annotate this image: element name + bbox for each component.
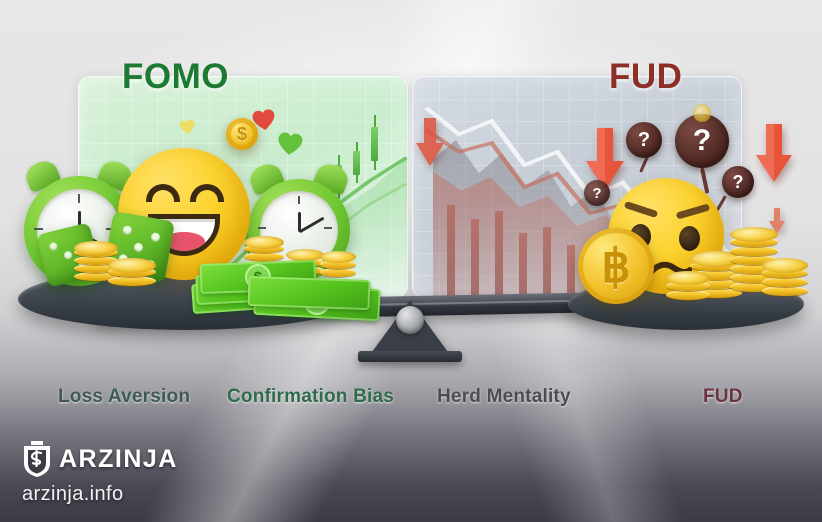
emoji-eye-right: [679, 226, 700, 251]
floating-coin: [693, 104, 711, 122]
question-mark-icon: ?: [638, 129, 650, 152]
brand-name: ARZINJA: [59, 445, 178, 474]
brand-logo: ARZINJA arzinja.info: [22, 440, 178, 506]
dollar-coin-floating: $: [226, 118, 258, 150]
question-bubble: ?: [584, 180, 610, 206]
term-confirmation-bias: Confirmation Bias: [227, 386, 394, 408]
emoji-eye-left: [146, 184, 180, 202]
emoji-eye-right: [190, 184, 224, 202]
fomo-title: FOMO: [122, 57, 229, 97]
candle: [371, 127, 378, 161]
fulcrum-pivot: [396, 306, 424, 334]
question-bubble: ?: [675, 114, 729, 168]
term-loss-aversion: Loss Aversion: [58, 386, 190, 408]
emoji-brow-left: [624, 201, 658, 218]
shield-badge-icon: [22, 440, 52, 478]
question-mark-icon: ?: [592, 185, 601, 202]
candle: [353, 151, 360, 175]
yellow-heart-icon: [179, 119, 196, 135]
term-fud: FUD: [703, 386, 743, 408]
term-herd-mentality: Herd Mentality: [437, 386, 571, 408]
dollar-symbol: $: [237, 124, 247, 145]
cash-bill: [248, 276, 371, 310]
question-mark-icon: ?: [693, 124, 711, 158]
question-mark-icon: ?: [733, 172, 744, 193]
fulcrum-base: [358, 351, 462, 362]
clock-minute-hand: [299, 217, 325, 234]
question-bubble: ?: [626, 122, 662, 158]
bitcoin-symbol: ฿: [601, 239, 630, 293]
bias-term-list: Loss Aversion Confirmation Bias Herd Men…: [0, 386, 822, 416]
question-bubble: ?: [722, 166, 754, 198]
down-arrow-icon: [414, 118, 446, 166]
brand-url: arzinja.info: [22, 483, 178, 506]
fud-title: FUD: [609, 57, 682, 97]
green-heart-icon: [277, 132, 303, 156]
infographic-canvas: ? ? ? ? $: [0, 0, 822, 522]
bitcoin-coin: ฿: [578, 228, 654, 304]
down-arrow-icon: [754, 124, 794, 182]
emoji-brow-right: [676, 203, 711, 219]
